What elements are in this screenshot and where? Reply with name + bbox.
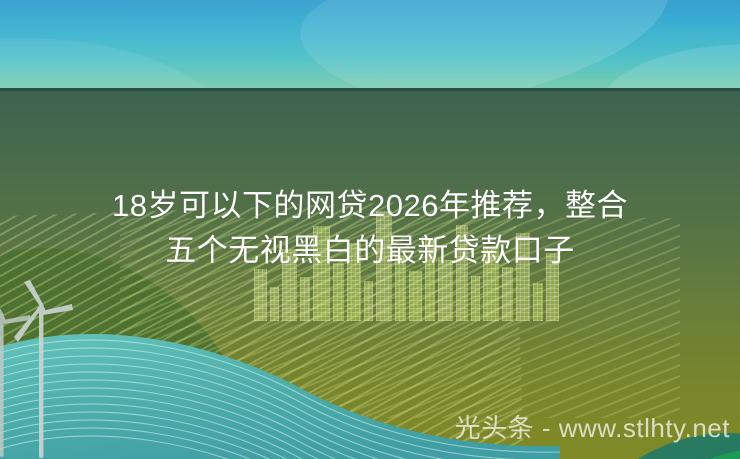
- watermark-text: 光头条 - www.stlhty.net: [455, 408, 730, 445]
- wave-svg: [0, 88, 740, 459]
- title-line-1: 18岁可以下的网贷2026年推荐，整合: [0, 183, 740, 228]
- sky-background: [0, 0, 740, 89]
- wave-layer: [0, 88, 740, 459]
- banner-title: 18岁可以下的网贷2026年推荐，整合 五个无视黑白的最新贷款口子: [0, 183, 740, 273]
- title-line-2: 五个无视黑白的最新贷款口子: [0, 228, 740, 273]
- eco-banner-image: 18岁可以下的网贷2026年推荐，整合 五个无视黑白的最新贷款口子 光头条 - …: [0, 0, 740, 459]
- land-background: [0, 88, 740, 459]
